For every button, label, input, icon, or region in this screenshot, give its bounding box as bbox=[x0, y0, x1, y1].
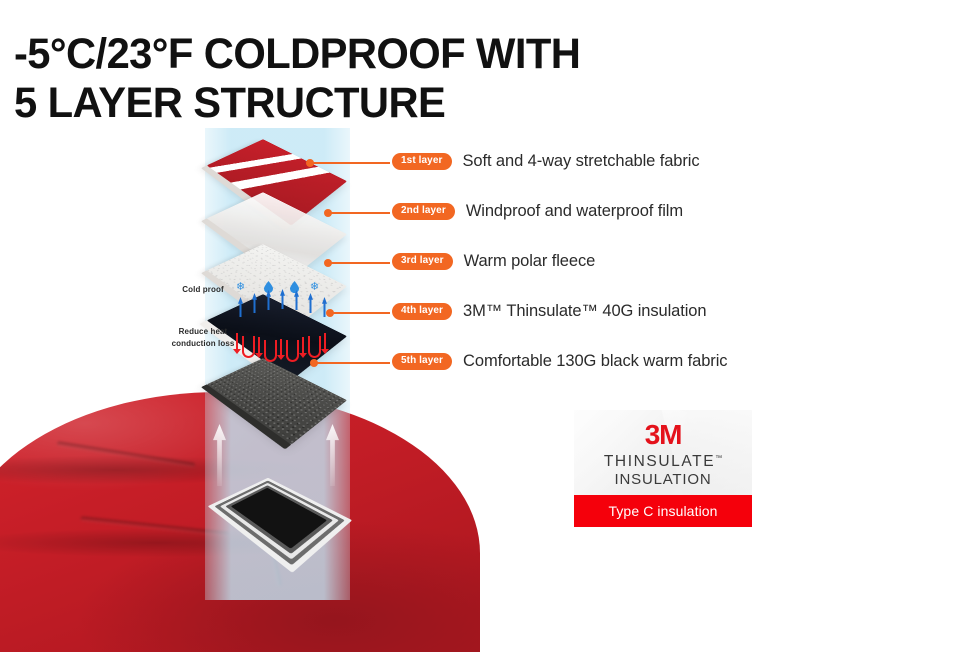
3m-logo: 3M bbox=[574, 421, 752, 449]
headline-line-2: 5 LAYER STRUCTURE bbox=[14, 79, 771, 128]
cold-proof-label: Cold proof bbox=[172, 285, 234, 296]
heat-reflect-arrow-icon bbox=[242, 336, 255, 358]
connector-line-5 bbox=[314, 362, 390, 364]
heat-reflect-arrow-icon bbox=[308, 336, 321, 358]
heat-reflect-arrow-icon bbox=[264, 340, 277, 362]
layer-row-5: 5th layer Comfortable 130G black warm fa… bbox=[392, 352, 727, 371]
layer-row-4: 4th layer 3M™ Thinsulate™ 40G insulation bbox=[392, 302, 706, 321]
layer-description-3: Warm polar fleece bbox=[464, 252, 596, 271]
layer-description-4: 3M™ Thinsulate™ 40G insulation bbox=[463, 302, 706, 321]
layer-badge-5: 5th layer bbox=[392, 353, 452, 370]
layer-description-2: Windproof and waterproof film bbox=[466, 202, 683, 221]
heat-loss-arrow-icon bbox=[302, 337, 304, 354]
heat-loss-arrow-icon bbox=[258, 337, 260, 354]
heat-reflect-arrow-icon bbox=[286, 340, 299, 362]
layer-badge-3: 3rd layer bbox=[392, 253, 453, 270]
connector-line-4 bbox=[330, 312, 390, 314]
layer-row-2: 2nd layer Windproof and waterproof film bbox=[392, 202, 683, 221]
layer-badge-2: 2nd layer bbox=[392, 203, 455, 220]
infographic-canvas: -5°C/23°F COLDPROOF WITH 5 LAYER STRUCTU… bbox=[0, 0, 970, 600]
headline-line-1: -5°C/23°F COLDPROOF WITH bbox=[14, 30, 580, 78]
thinsulate-wordmark: THINSULATE™ bbox=[574, 453, 752, 471]
layer-row-3: 3rd layer Warm polar fleece bbox=[392, 252, 595, 271]
connector-line-1 bbox=[310, 162, 390, 164]
snowflake-icon: ❄ bbox=[310, 282, 319, 293]
connector-line-2 bbox=[328, 212, 390, 214]
page-title: -5°C/23°F COLDPROOF WITH 5 LAYER STRUCTU… bbox=[14, 30, 771, 127]
snowflake-icon: ❄ bbox=[236, 282, 245, 293]
layer-badge-4: 4th layer bbox=[392, 303, 452, 320]
heat-loss-arrow-icon bbox=[324, 333, 326, 350]
layer-row-1: 1st layer Soft and 4-way stretchable fab… bbox=[392, 152, 700, 171]
connector-line-3 bbox=[328, 262, 390, 264]
thinsulate-badge: 3M THINSULATE™ INSULATION Type C insulat… bbox=[574, 410, 752, 527]
reduce-heat-label-line-1: Reduce heat bbox=[168, 327, 238, 338]
trademark-symbol: ™ bbox=[715, 455, 722, 462]
insulation-type-banner: Type C insulation bbox=[574, 495, 752, 527]
layer-badge-1: 1st layer bbox=[392, 153, 452, 170]
reduce-heat-label-line-2: conduction loss bbox=[168, 339, 238, 350]
insulation-subtitle: INSULATION bbox=[574, 471, 752, 489]
thinsulate-text: THINSULATE bbox=[604, 453, 715, 470]
layer-description-5: Comfortable 130G black warm fabric bbox=[463, 352, 727, 371]
heat-loss-arrow-icon bbox=[280, 339, 282, 356]
layer-description-1: Soft and 4-way stretchable fabric bbox=[463, 152, 700, 171]
